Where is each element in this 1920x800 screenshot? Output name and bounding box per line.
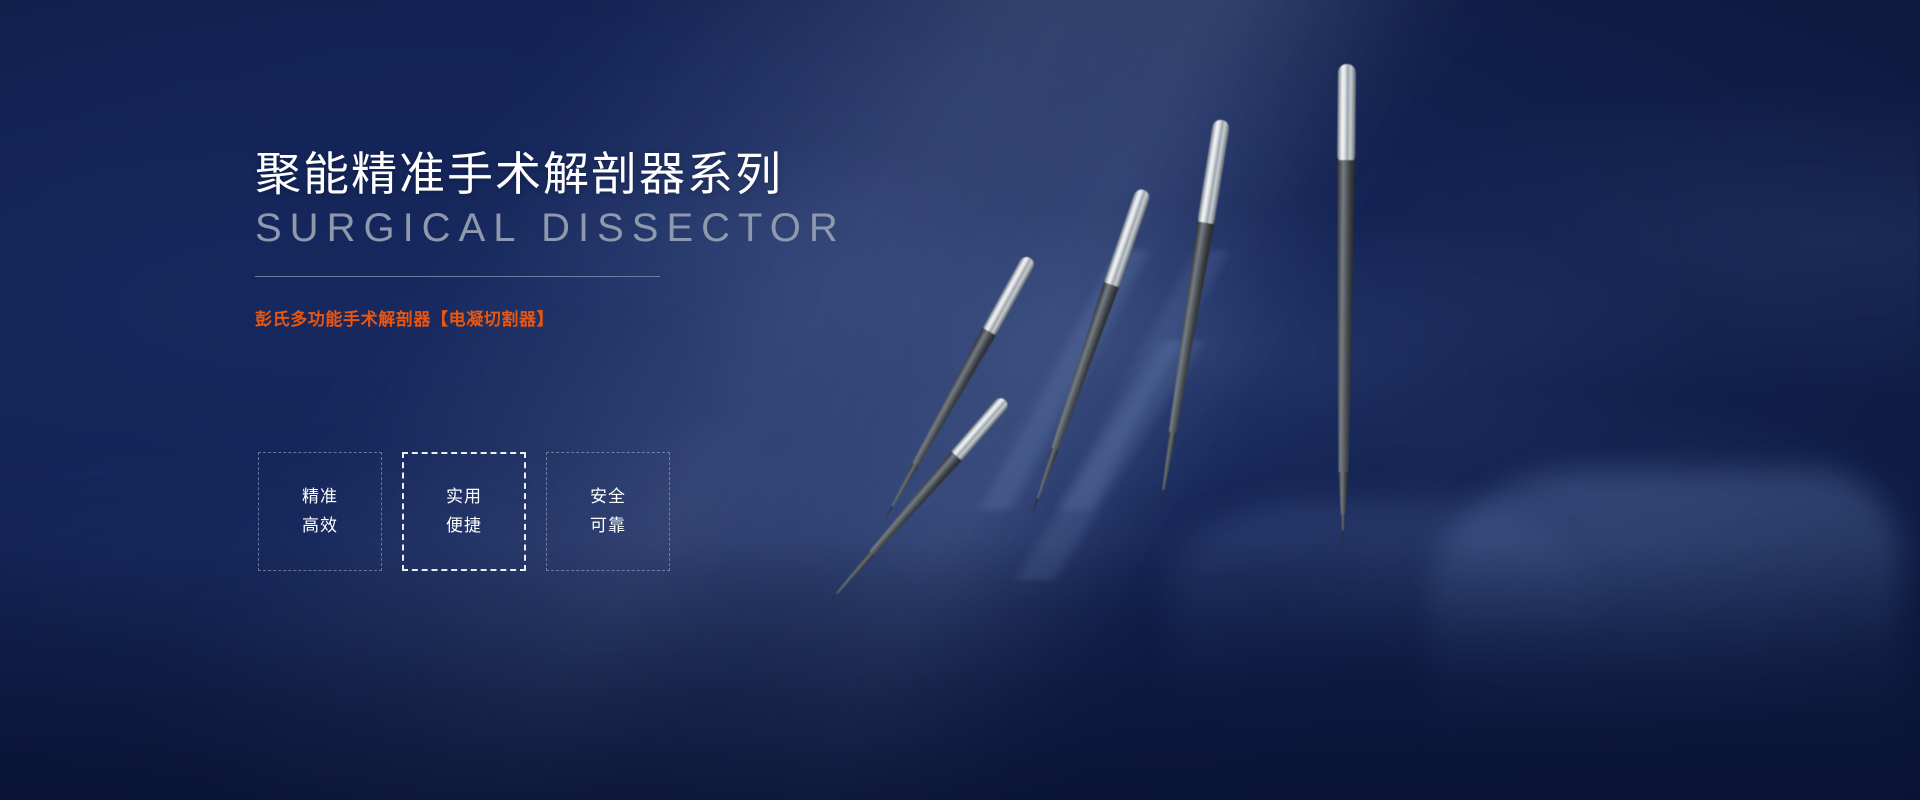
- feature-box-group: 精准 高效 实用 便捷 安全 可靠: [258, 452, 670, 571]
- feature-line-1: 安全: [590, 483, 626, 511]
- feature-line-2: 便捷: [446, 512, 482, 540]
- feature-line-1: 精准: [302, 483, 338, 511]
- feature-line-2: 可靠: [590, 512, 626, 540]
- hero-banner: 聚能精准手术解剖器系列 SURGICAL DISSECTOR 彭氏多功能手术解剖…: [0, 0, 1920, 800]
- product-image-dissectors: [0, 0, 1920, 800]
- page-subtitle-english: SURGICAL DISSECTOR: [255, 206, 895, 250]
- product-name: 彭氏多功能手术解剖器【电凝切割器】: [255, 305, 895, 330]
- feature-box-practical[interactable]: 实用 便捷: [402, 452, 526, 571]
- feature-line-1: 实用: [446, 483, 482, 511]
- feature-box-safety[interactable]: 安全 可靠: [546, 452, 670, 571]
- hero-copy: 聚能精准手术解剖器系列 SURGICAL DISSECTOR 彭氏多功能手术解剖…: [255, 148, 895, 330]
- title-divider: [255, 276, 660, 277]
- feature-line-2: 高效: [302, 512, 338, 540]
- page-title: 聚能精准手术解剖器系列: [255, 148, 895, 200]
- feature-box-precision[interactable]: 精准 高效: [258, 452, 382, 571]
